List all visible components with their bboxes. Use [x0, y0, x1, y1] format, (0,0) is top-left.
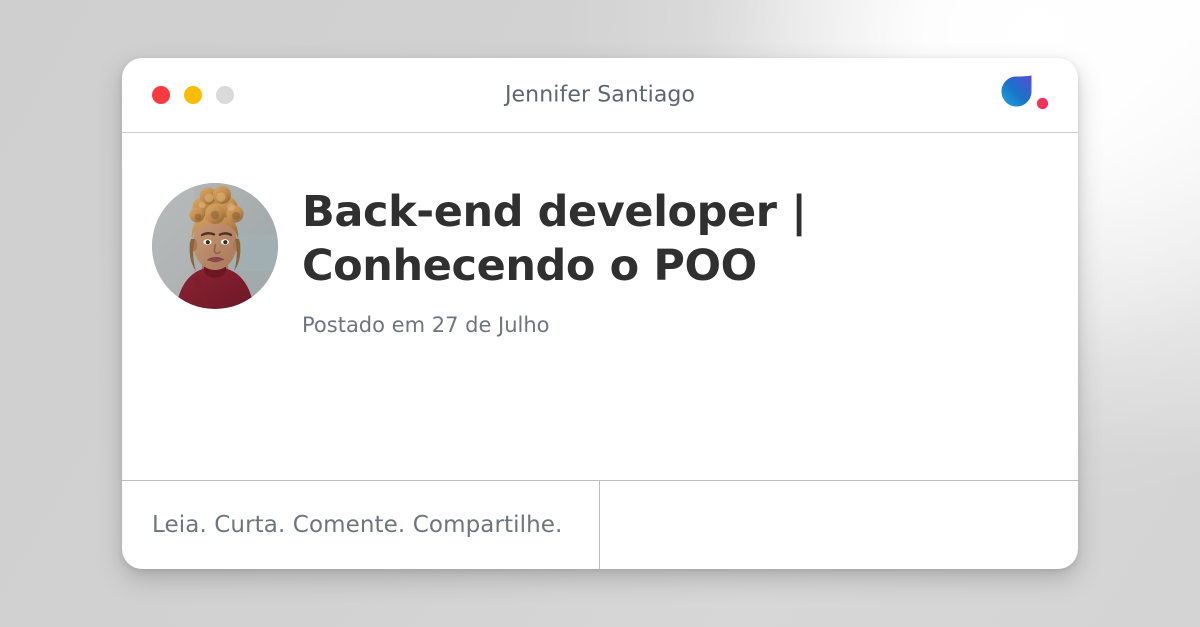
minimize-button[interactable]	[184, 86, 202, 104]
post-title: Back-end developer | Conhecendo o POO	[302, 185, 807, 293]
window-title: Jennifer Santiago	[122, 83, 1078, 108]
post-date: Postado em 27 de Julho	[302, 313, 807, 337]
post-content: Back-end developer | Conhecendo o POO Po…	[122, 133, 1078, 480]
footer-actions-cell	[600, 481, 1078, 569]
window-controls	[152, 86, 234, 104]
post-title-line-1: Back-end developer |	[302, 187, 807, 237]
card-footer: Leia. Curta. Comente. Compartilhe.	[122, 480, 1078, 569]
post-meta: Back-end developer | Conhecendo o POO Po…	[302, 183, 807, 337]
footer-tagline-cell: Leia. Curta. Comente. Compartilhe.	[122, 481, 600, 569]
post-title-line-2: Conhecendo o POO	[302, 241, 757, 291]
window-titlebar: Jennifer Santiago	[122, 58, 1078, 133]
maximize-button[interactable]	[216, 86, 234, 104]
footer-tagline: Leia. Curta. Comente. Compartilhe.	[152, 512, 562, 538]
browser-window-card: Jennifer Santiago	[122, 58, 1078, 569]
close-button[interactable]	[152, 86, 170, 104]
brand-logo-icon[interactable]	[998, 73, 1050, 117]
avatar	[152, 183, 278, 309]
